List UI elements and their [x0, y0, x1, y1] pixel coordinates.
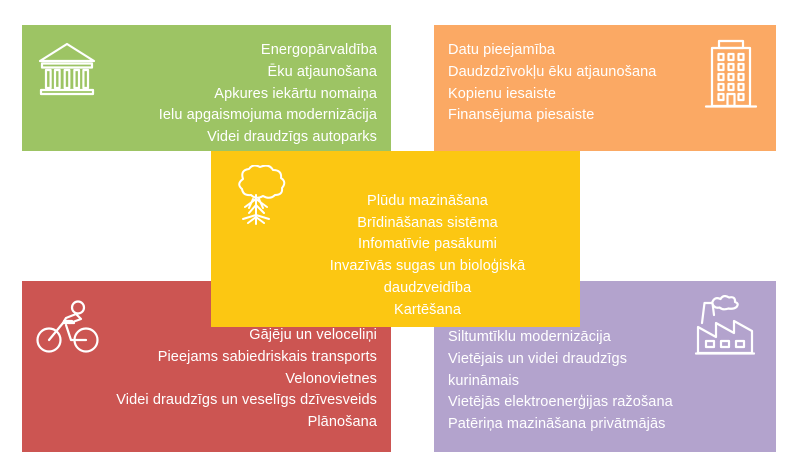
cutoff-heading	[0, 0, 800, 7]
factory-icon	[690, 295, 760, 361]
classical-building-icon	[36, 39, 98, 97]
nature-adaptation-panel[interactable]: Plūdu mazināšana Brīdināšanas sistēma In…	[211, 151, 580, 327]
nature-adaptation-list: Plūdu mazināšana Brīdināšanas sistēma In…	[289, 157, 566, 322]
cyclist-icon	[36, 299, 102, 355]
tree-icon	[223, 165, 289, 231]
energy-management-list: Energopārvaldība Ēku atjaunošana Apkures…	[98, 35, 377, 149]
data-availability-panel[interactable]: Datu pieejamība Daudzdzīvokļu ēku atjaun…	[434, 25, 776, 151]
apartment-building-icon	[702, 37, 760, 113]
data-availability-list: Datu pieejamība Daudzdzīvokļu ēku atjaun…	[448, 35, 702, 127]
energy-management-panel[interactable]: Energopārvaldība Ēku atjaunošana Apkures…	[22, 25, 391, 151]
slide-canvas: Energopārvaldība Ēku atjaunošana Apkures…	[0, 0, 800, 476]
